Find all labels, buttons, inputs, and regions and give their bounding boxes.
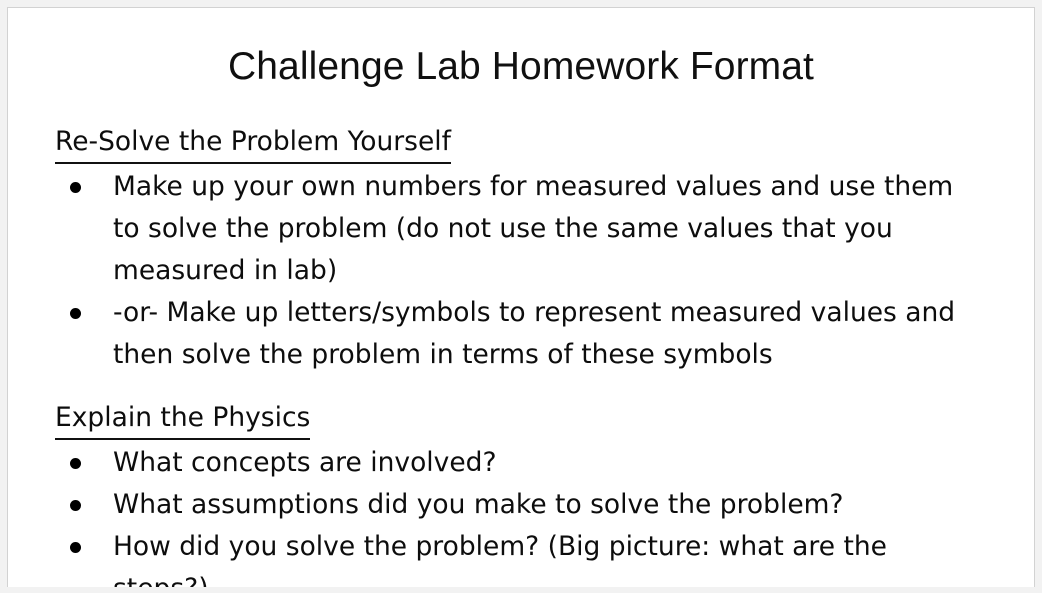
bullet-list: Make up your own numbers for measured va…	[55, 166, 985, 376]
list-item: What concepts are involved?	[55, 442, 985, 484]
bullet-text: -or- Make up letters/symbols to represen…	[113, 297, 955, 370]
list-item: Make up your own numbers for measured va…	[55, 166, 985, 292]
slide-canvas: Challenge Lab Homework Format Re-Solve t…	[7, 7, 1035, 587]
bullet-text: What assumptions did you make to solve t…	[113, 489, 844, 520]
section-re-solve-the-problem-yourself: Re-Solve the Problem Yourself Make up yo…	[55, 121, 985, 376]
bullet-dot-icon	[70, 458, 81, 469]
slide-body: Re-Solve the Problem Yourself Make up yo…	[55, 121, 985, 587]
list-item: -or- Make up letters/symbols to represen…	[55, 292, 985, 376]
bullet-text: Make up your own numbers for measured va…	[113, 171, 953, 286]
slide-title: Challenge Lab Homework Format	[8, 44, 1034, 90]
section-heading: Re-Solve the Problem Yourself	[55, 122, 451, 164]
bullet-text: What concepts are involved?	[113, 447, 497, 478]
bullet-dot-icon	[70, 182, 81, 193]
section-explain-the-physics: Explain the Physics What concepts are in…	[55, 397, 985, 587]
section-heading: Explain the Physics	[55, 398, 310, 440]
bullet-dot-icon	[70, 500, 81, 511]
bullet-dot-icon	[70, 308, 81, 319]
list-item: How did you solve the problem? (Big pict…	[55, 526, 985, 587]
bullet-list: What concepts are involved? What assumpt…	[55, 442, 985, 587]
slide-page: Challenge Lab Homework Format Re-Solve t…	[0, 0, 1042, 593]
bullet-text: How did you solve the problem? (Big pict…	[113, 531, 887, 587]
list-item: What assumptions did you make to solve t…	[55, 484, 985, 526]
bullet-dot-icon	[70, 542, 81, 553]
